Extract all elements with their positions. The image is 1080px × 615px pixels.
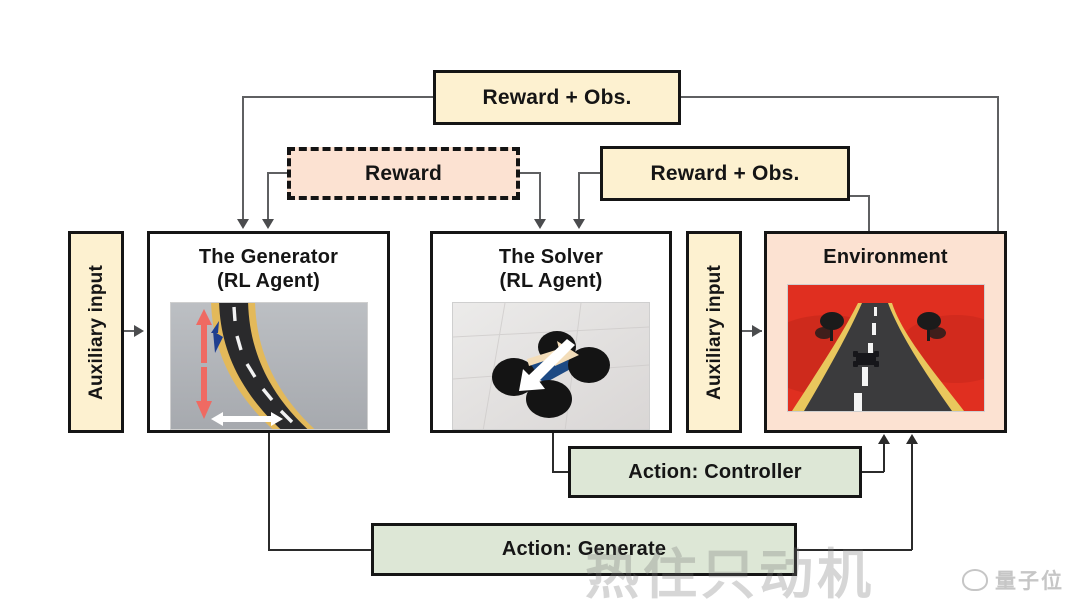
node-reward-label: Reward	[365, 162, 442, 186]
edge-action-generate-to-env-vertical	[911, 444, 913, 550]
arrowhead-into-solver-b	[573, 219, 585, 229]
solver-robot-thumbnail	[452, 302, 650, 430]
solver-robot-svg	[453, 303, 649, 430]
edge-rewardobs-right-to-solver-vertical	[578, 172, 580, 221]
node-environment[interactable]: Environment	[764, 231, 1007, 433]
node-aux-input-right[interactable]: Auxiliary input	[686, 231, 742, 433]
aux-input-left-label: Auxiliary input	[87, 265, 106, 400]
edge-rewardobs-top-to-generator-horizontal	[243, 96, 435, 98]
corner-watermark-text: 量子位	[995, 565, 1064, 595]
arrowhead-into-generator-aux	[134, 325, 144, 337]
environment-title: Environment	[823, 246, 947, 270]
arrowhead-into-generator-a	[237, 219, 249, 229]
edge-rewardobs-top-to-generator-vertical	[242, 96, 244, 221]
node-generator[interactable]: The Generator (RL Agent)	[147, 231, 390, 433]
edge-solver-to-action-controller-vertical	[552, 432, 554, 472]
edge-env-to-rewardobs-right-vertical	[868, 196, 870, 232]
edge-action-controller-to-env-horizontal	[862, 471, 884, 473]
arrowhead-into-environment-aux	[752, 325, 762, 337]
aux-input-right-label: Auxiliary input	[705, 265, 724, 400]
wechat-icon	[962, 569, 988, 591]
diagram-canvas: Reward + Obs. Reward Reward + Obs. Auxil…	[0, 0, 1080, 615]
generator-title-line1: The Generator	[199, 246, 338, 270]
arrowhead-into-generator-b	[262, 219, 274, 229]
generator-title-line2: (RL Agent)	[217, 270, 320, 294]
node-solver[interactable]: The Solver (RL Agent)	[430, 231, 672, 433]
generator-road-svg	[171, 303, 367, 430]
generator-road-thumbnail	[170, 302, 368, 430]
action-controller-label: Action: Controller	[628, 461, 802, 484]
node-reward-dashed[interactable]: Reward	[287, 147, 520, 200]
environment-scene-thumbnail	[787, 284, 985, 412]
edge-env-to-rewardobs-right-horizontal	[849, 195, 870, 197]
node-reward-obs-top-label: Reward + Obs.	[482, 86, 631, 110]
corner-watermark: 量子位	[962, 565, 1064, 595]
edge-reward-to-generator-vertical	[267, 172, 269, 221]
node-reward-obs-right-label: Reward + Obs.	[650, 162, 799, 186]
node-action-generate[interactable]: Action: Generate	[371, 523, 797, 576]
solver-title-line1: The Solver	[499, 246, 603, 270]
node-aux-input-left[interactable]: Auxiliary input	[68, 231, 124, 433]
edge-action-controller-to-env-vertical	[883, 444, 885, 472]
edge-env-to-rewardobs-top-horizontal	[681, 96, 999, 98]
edge-generator-to-action-generate-vertical	[268, 432, 270, 550]
solver-title-line2: (RL Agent)	[499, 270, 602, 294]
environment-scene-svg	[788, 285, 984, 411]
edge-generator-to-action-generate-horizontal	[268, 549, 373, 551]
edge-reward-to-solver-horizontal	[519, 172, 541, 174]
arrowhead-into-environment-generate	[906, 434, 918, 444]
arrowhead-into-solver-a	[534, 219, 546, 229]
edge-rewardobs-right-to-solver-horizontal	[578, 172, 601, 174]
action-generate-label: Action: Generate	[502, 538, 666, 561]
edge-reward-to-solver-vertical	[539, 172, 541, 221]
edge-env-to-rewardobs-top-vertical	[997, 97, 999, 231]
node-action-controller[interactable]: Action: Controller	[568, 446, 862, 498]
edge-action-generate-to-env-horizontal	[797, 549, 912, 551]
node-reward-obs-right[interactable]: Reward + Obs.	[600, 146, 850, 201]
arrowhead-into-environment-controller	[878, 434, 890, 444]
node-reward-obs-top[interactable]: Reward + Obs.	[433, 70, 681, 125]
